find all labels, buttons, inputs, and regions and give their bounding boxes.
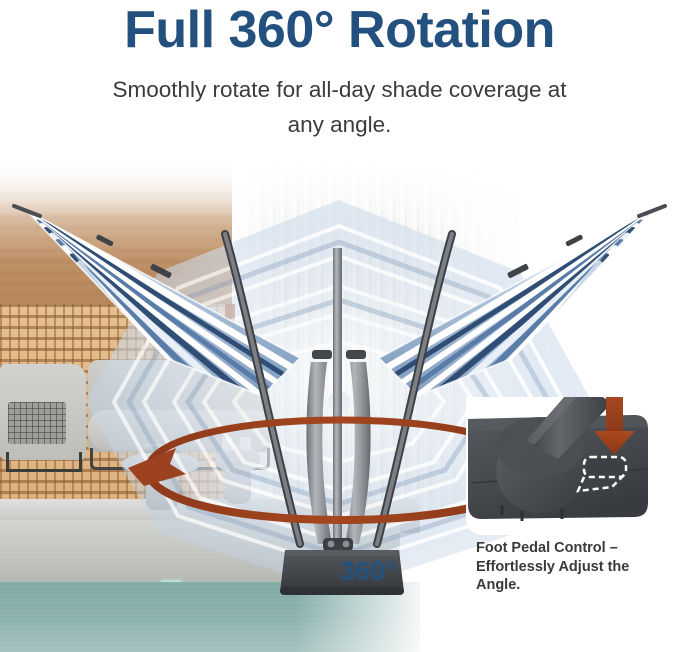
page-subtitle: Smoothly rotate for all-day shade covera… (105, 72, 575, 142)
foot-pedal-inset (466, 397, 656, 535)
header: Full 360° Rotation Smoothly rotate for a… (0, 0, 679, 152)
foot-pedal-caption: Foot Pedal Control – Effortlessly Adjust… (476, 539, 666, 595)
rotation-degree-label: 360° (340, 556, 396, 587)
product-feature-image: Full 360° Rotation Smoothly rotate for a… (0, 0, 679, 652)
page-title: Full 360° Rotation (0, 1, 679, 59)
